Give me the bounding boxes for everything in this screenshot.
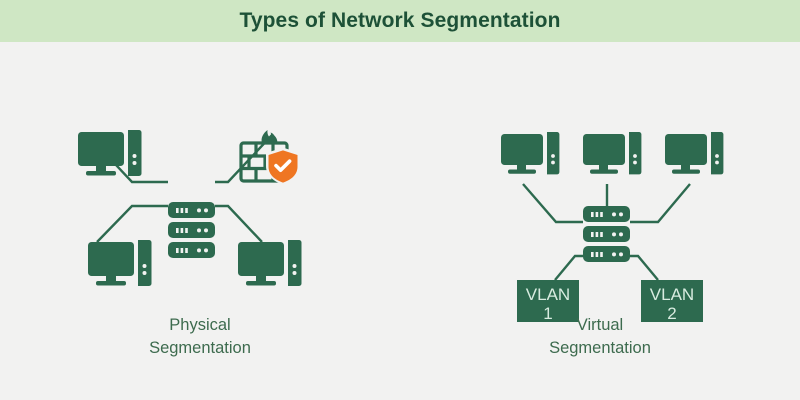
server-stack-icon — [583, 206, 630, 262]
desktop-computer-icon — [88, 240, 152, 286]
vlan-box-1-name: VLAN — [526, 285, 570, 304]
link-topright-to-server — [630, 184, 690, 222]
link-bottomleft-to-server — [97, 206, 168, 242]
caption-line-2: Segmentation — [400, 337, 800, 360]
caption-physical-segmentation: Physical Segmentation — [0, 314, 400, 360]
caption-line-1: Virtual — [400, 314, 800, 337]
desktop-computer-icon — [238, 240, 302, 286]
panel-physical-segmentation: Physical Segmentation — [0, 42, 400, 400]
page-title: Types of Network Segmentation — [0, 0, 800, 42]
virtual-segmentation-diagram: VLAN 1 VLAN 2 — [400, 42, 800, 322]
desktop-computer-icon — [501, 132, 559, 174]
physical-segmentation-diagram — [0, 42, 400, 322]
vlan-box-2-name: VLAN — [650, 285, 694, 304]
caption-line-1: Physical — [0, 314, 400, 337]
server-unit — [583, 226, 630, 242]
server-unit — [168, 242, 215, 258]
link-server-to-vlan2 — [630, 256, 658, 280]
link-bottomright-to-server — [215, 206, 262, 242]
server-unit — [583, 206, 630, 222]
link-server-to-vlan1 — [555, 256, 583, 280]
shield-check-icon — [266, 148, 300, 185]
desktop-computer-icon — [665, 132, 723, 174]
server-unit — [168, 202, 215, 218]
infographic-canvas: Types of Network Segmentation — [0, 0, 800, 400]
caption-virtual-segmentation: Virtual Segmentation — [400, 314, 800, 360]
link-topleft-to-server — [523, 184, 583, 222]
desktop-computer-icon — [583, 132, 641, 174]
firewall-icon — [241, 130, 300, 185]
server-stack-icon — [168, 202, 215, 258]
caption-line-2: Segmentation — [0, 337, 400, 360]
desktop-computer-icon — [78, 130, 142, 176]
panel-virtual-segmentation: VLAN 1 VLAN 2 Virtual Segmentation — [400, 42, 800, 400]
server-unit — [583, 246, 630, 262]
server-unit — [168, 222, 215, 238]
